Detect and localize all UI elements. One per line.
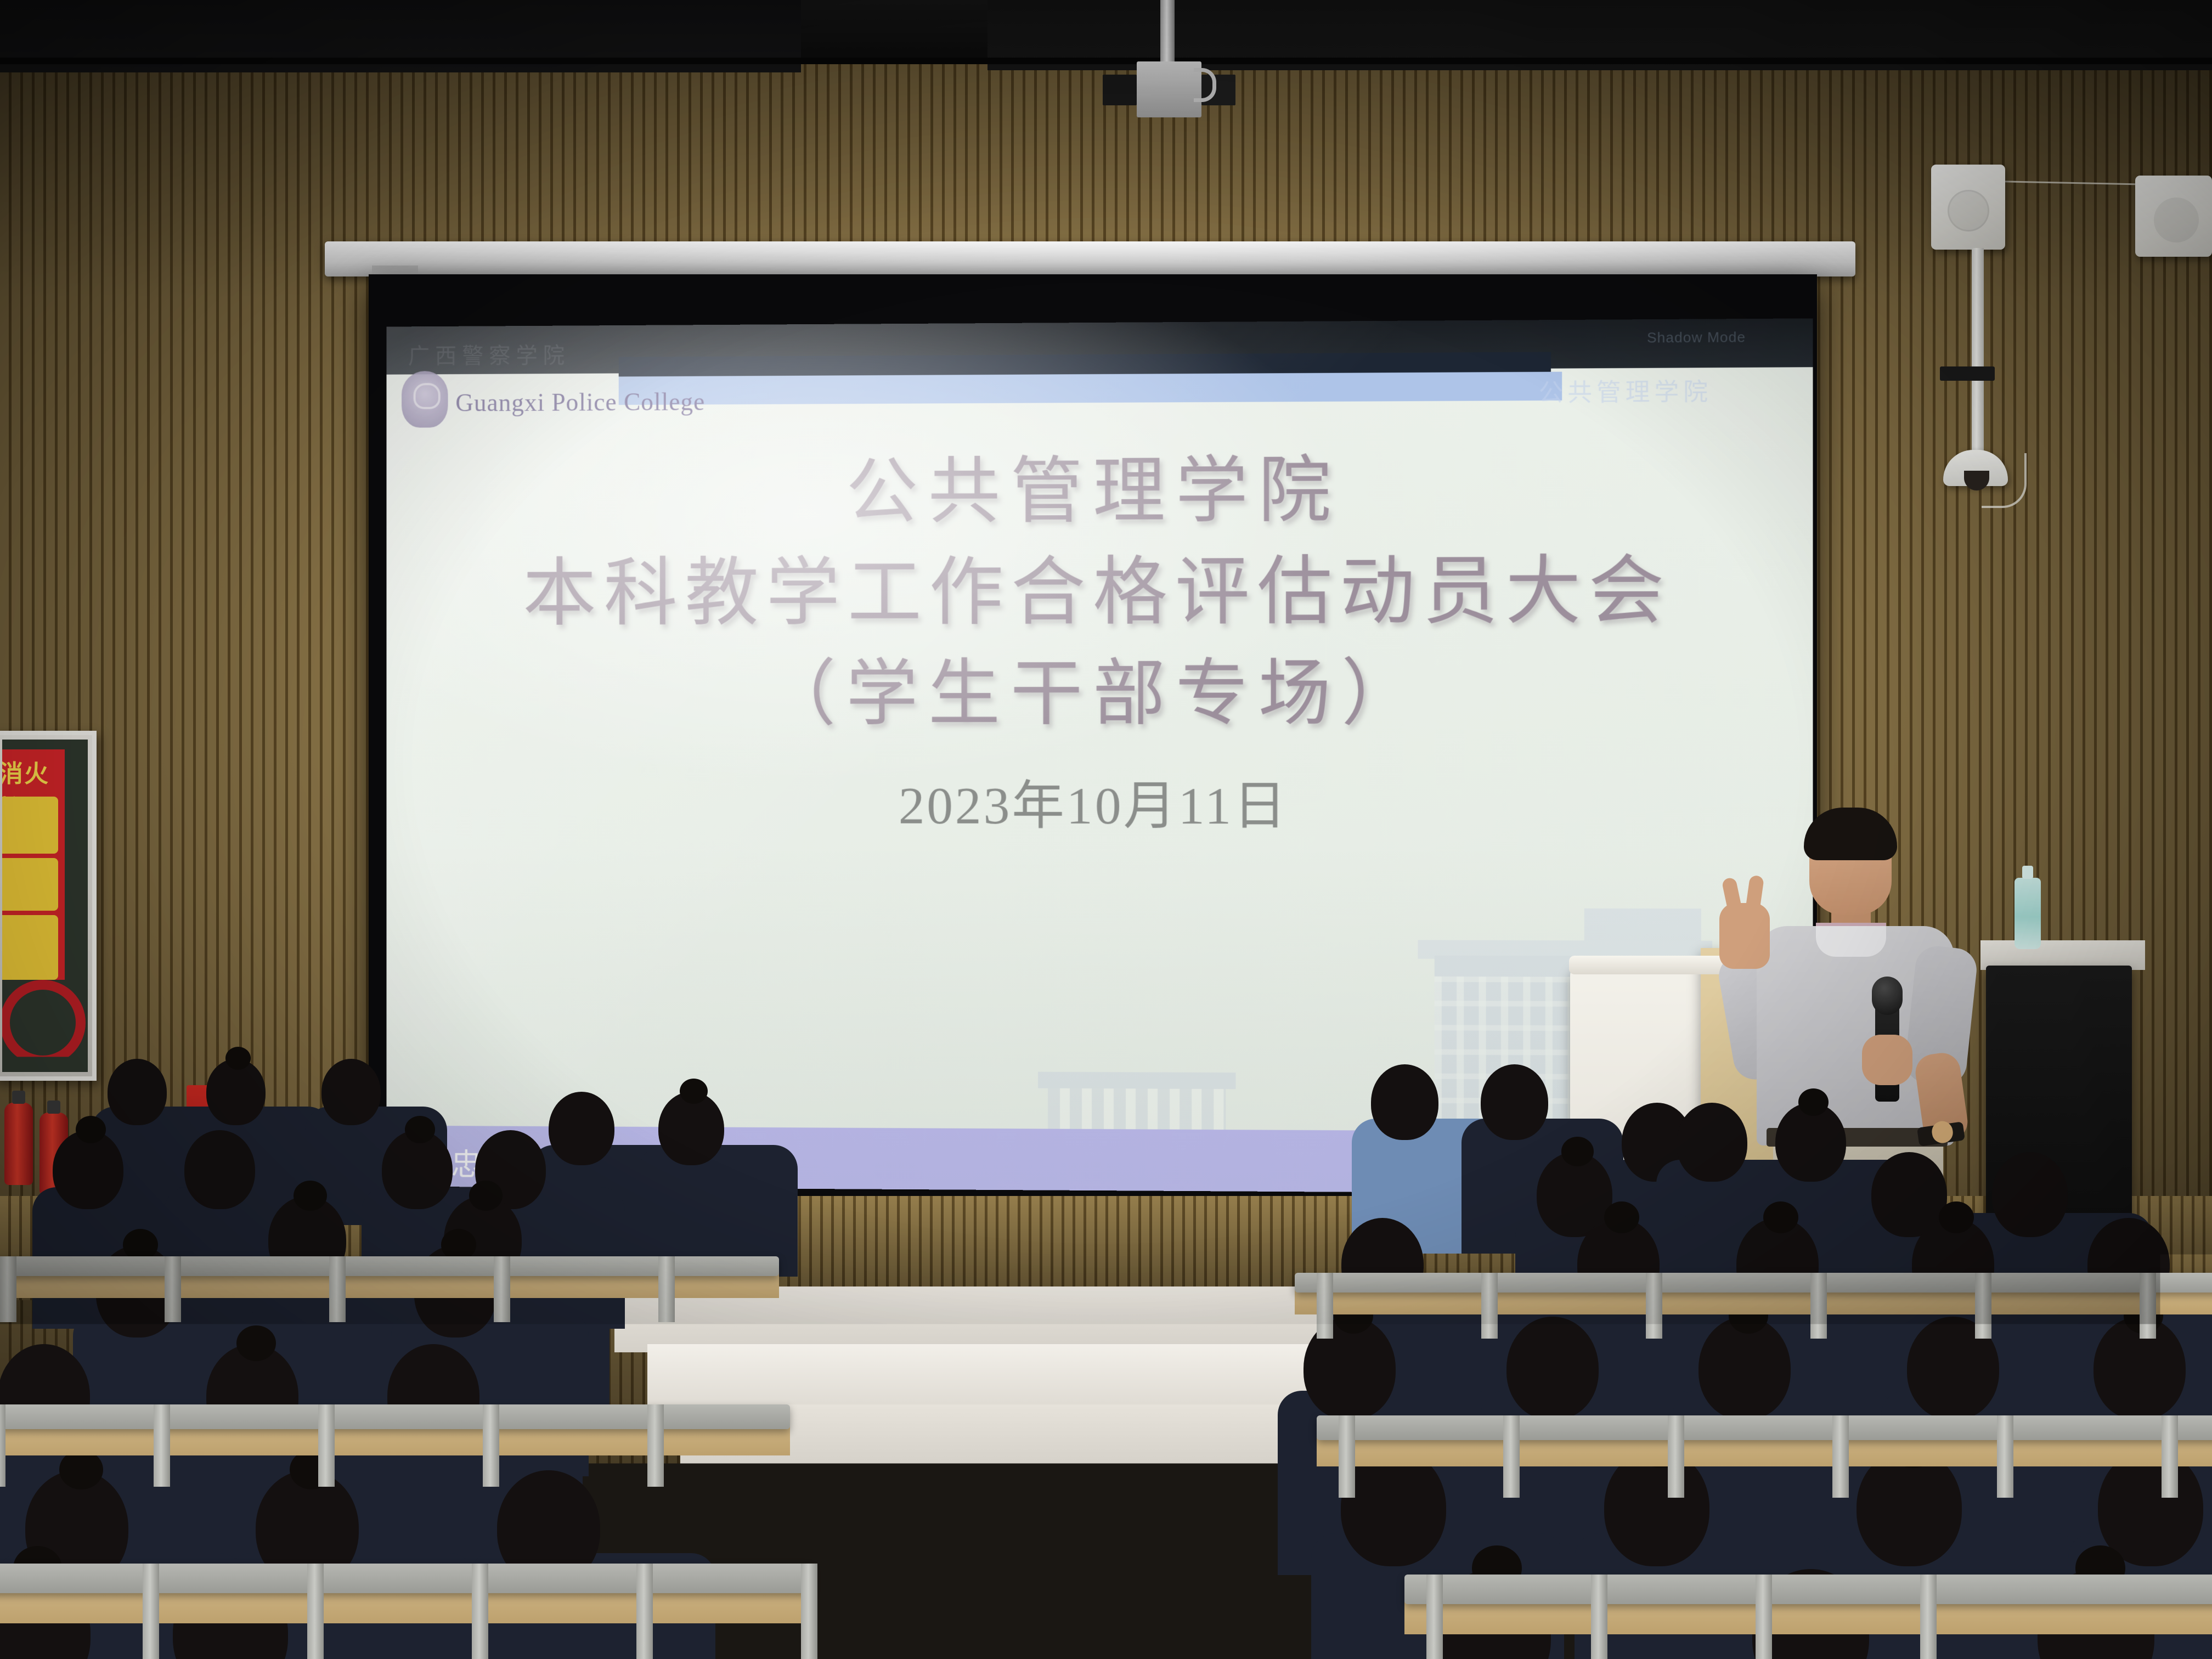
bench-post — [1920, 1575, 1937, 1659]
bench-post — [0, 1404, 5, 1487]
fire-hydrant-cabinet[interactable]: 消火栓 — [0, 731, 97, 1081]
bench-post — [1810, 1273, 1827, 1339]
screen-case-tab — [372, 266, 418, 274]
poster-panel — [2, 915, 58, 980]
projector-mount-hook — [1194, 68, 1216, 102]
slide-line-3: （学生干部专场） — [387, 655, 1813, 732]
bench-post — [1481, 1273, 1498, 1339]
bench-post — [1997, 1415, 2013, 1498]
bench-post — [1756, 1575, 1772, 1659]
audience-member-hair-bun — [1604, 1201, 1639, 1233]
audience-member-hair-bun — [1798, 1088, 1829, 1116]
ceiling-beam — [0, 58, 2212, 64]
bench-post — [2085, 1575, 2101, 1659]
audience-member-hair-bun — [59, 1450, 103, 1490]
bench-post — [0, 1256, 16, 1322]
audience-member-head — [1371, 1064, 1438, 1140]
audience-member-hair-bun — [294, 1181, 327, 1211]
camera-mount-clip — [1940, 366, 1995, 381]
bench-post — [143, 1564, 159, 1659]
bench-post — [1317, 1273, 1333, 1339]
presenter-v-gesture-hand — [1719, 903, 1770, 969]
audience-member-hair-bun — [405, 1116, 435, 1143]
bench-post — [1975, 1273, 1991, 1339]
bench-post — [1503, 1415, 1520, 1498]
cabinet-glass: 消火栓 — [2, 740, 88, 1072]
presenter-hair — [1804, 808, 1897, 860]
bench-rail — [0, 1404, 790, 1429]
bench-post — [154, 1404, 170, 1487]
poster-panel — [2, 797, 58, 854]
bench-rail — [1295, 1273, 2212, 1293]
bench-post — [1832, 1415, 1849, 1498]
camera-mount-pole — [1972, 248, 1984, 456]
screen-college-cn-ghost: 广西警察学院 — [408, 337, 570, 370]
poster-panel — [2, 858, 58, 911]
audience-member-hair-bun — [1561, 1137, 1594, 1166]
slide-date: 2023年10月11日 — [387, 763, 1813, 840]
bench-post — [483, 1404, 499, 1487]
fire-hose-reel — [2, 980, 86, 1065]
projector-mode-label: Shadow Mode — [1647, 329, 1746, 346]
bench-post — [636, 1564, 653, 1659]
audience-member-head — [108, 1059, 167, 1125]
microphone-head — [1872, 977, 1903, 1015]
slide-accent-bar — [619, 372, 1562, 405]
wall-speaker-right-icon — [2135, 176, 2212, 257]
audience-member-head — [184, 1130, 255, 1209]
audience-member-head — [1506, 1317, 1599, 1420]
fire-extinguisher-icon — [4, 1103, 33, 1185]
bench-post — [1426, 1575, 1443, 1659]
projector-mount-bracket — [1137, 61, 1201, 117]
bench-post — [647, 1404, 664, 1487]
bench-post — [2140, 1273, 2156, 1339]
fire-safety-poster: 消火栓 — [2, 749, 65, 980]
presenter-collar — [1816, 923, 1886, 957]
building-roof — [1038, 1072, 1235, 1090]
bench-post — [1668, 1415, 1684, 1498]
bench-post — [801, 1564, 817, 1659]
audience-member-head — [1677, 1103, 1747, 1182]
slide-college-en: Guangxi Police College — [455, 387, 705, 417]
bench-post — [1646, 1273, 1662, 1339]
bench-post — [329, 1256, 346, 1322]
bench-post — [658, 1256, 675, 1322]
bench-post — [165, 1256, 181, 1322]
bench-post — [494, 1256, 510, 1322]
bench-rail — [1317, 1415, 2212, 1440]
audience-member-head — [1992, 1152, 2068, 1237]
audience-member-head — [1481, 1064, 1548, 1140]
bench-post — [1339, 1415, 1355, 1498]
audience-member-head — [321, 1059, 381, 1125]
audience-member-head — [549, 1092, 614, 1165]
college-crest-icon — [402, 371, 448, 427]
bench-rail — [0, 1564, 812, 1593]
bench-post — [318, 1404, 335, 1487]
bench-post — [307, 1564, 324, 1659]
presenter-hand-holding-mic — [1862, 1035, 1912, 1085]
wall-speaker-left-icon — [1931, 165, 2005, 250]
bench-post — [472, 1564, 488, 1659]
projection-screen-case — [325, 241, 1855, 276]
slide-line-1: 公共管理学院 — [387, 450, 1813, 532]
projector-mount-rod — [1160, 0, 1175, 65]
screen-dark-bleed: 广西警察学院 Shadow Mode — [387, 318, 1813, 374]
auditorium-scene-photo: 消火栓 广西警察学院 Shadow Mode Guangxi Police Co… — [0, 0, 2212, 1659]
audience-member-hair-bun — [1939, 1201, 1974, 1233]
slide-line-2: 本科教学工作合格评估动员大会 — [387, 551, 1813, 633]
slide-watermark-right: 公共管理学院 — [1539, 372, 1712, 408]
slide-text-block: 公共管理学院 本科教学工作合格评估动员大会 （学生干部专场） 2023年10月1… — [387, 450, 1813, 840]
audience-member-hair-bun — [1763, 1201, 1798, 1233]
bench-post — [1591, 1575, 1607, 1659]
audience-member-hair-bun — [76, 1116, 106, 1143]
audience-member-hair-bun — [236, 1325, 276, 1361]
audience-member-hair-bun — [469, 1181, 503, 1211]
bench-post — [2162, 1415, 2178, 1498]
